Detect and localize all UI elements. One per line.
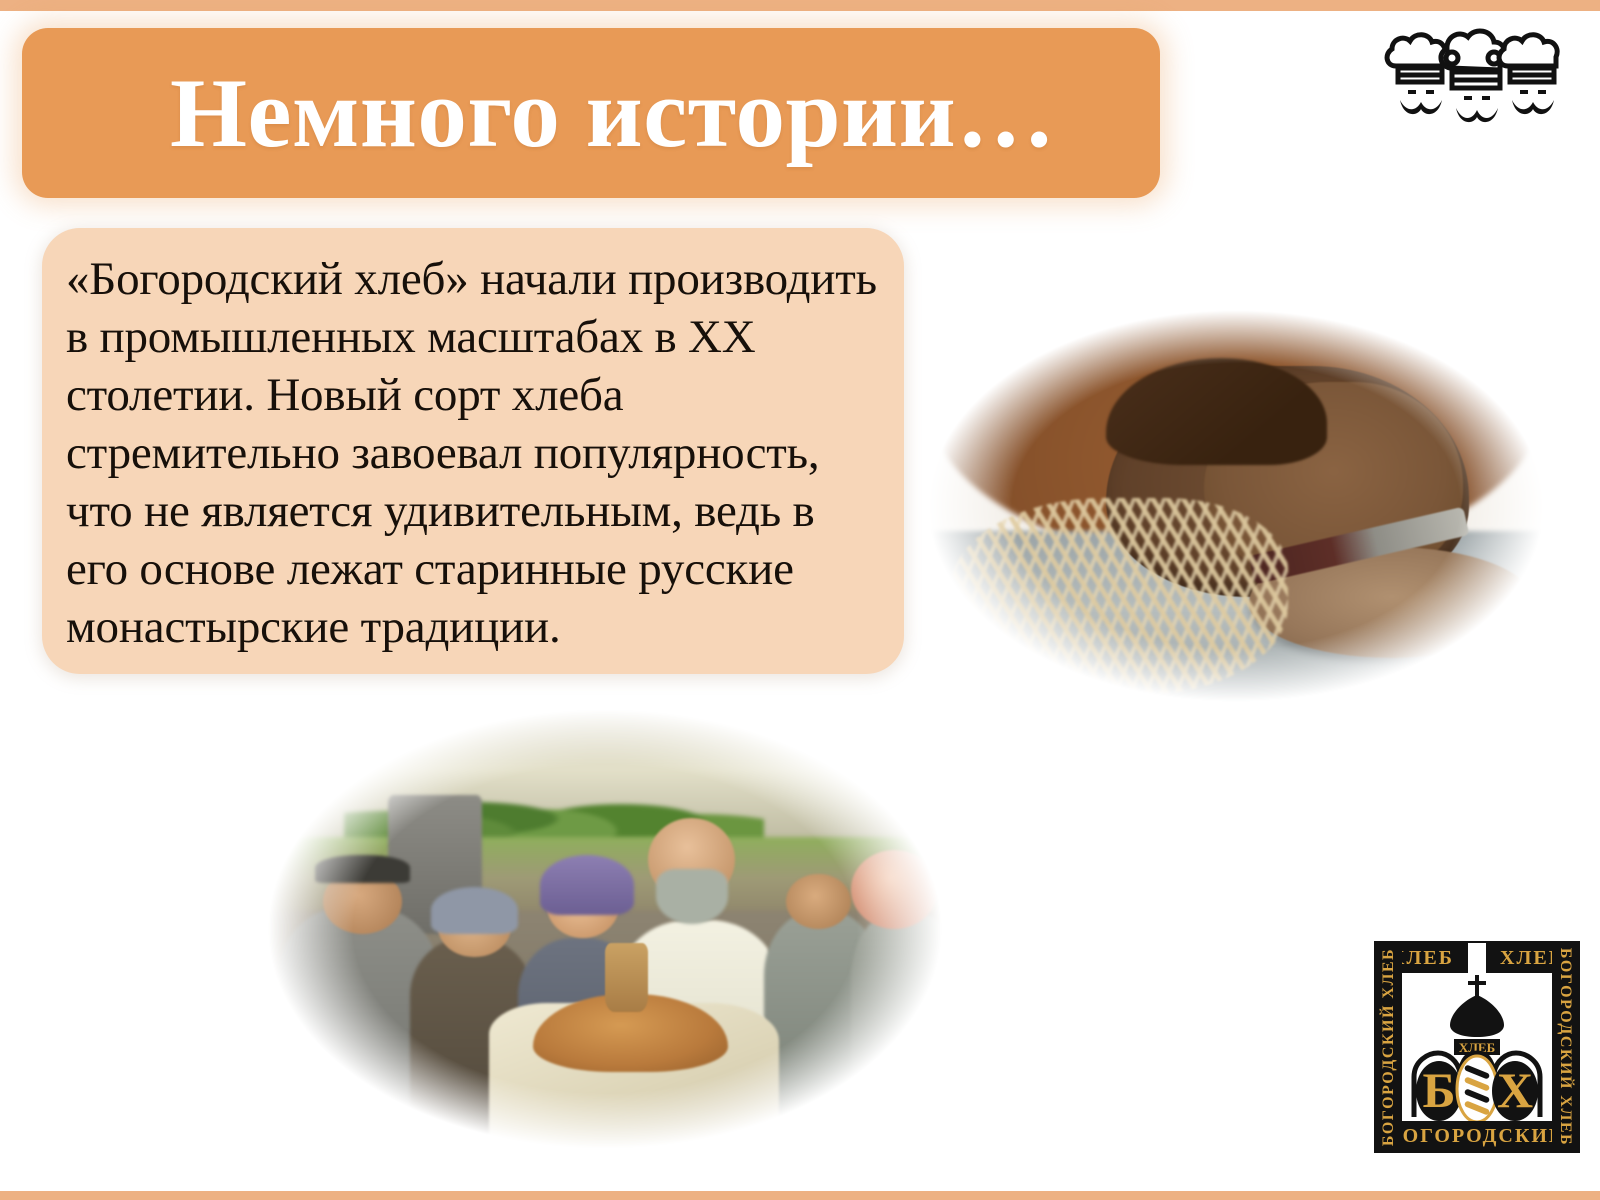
logo-text-bottom: БОГОРОДСКИЙ bbox=[1376, 1121, 1578, 1151]
painting-figure-man-left-cap bbox=[315, 855, 409, 883]
logo-text-right: БОГОРОДСКИЙ ХЛЕБ bbox=[1552, 943, 1578, 1151]
logo-emblem: ХЛЕБ Б Х bbox=[1404, 973, 1550, 1121]
bogorodsky-hleb-logo: ХЛЕБ ХЛЕБ БОГОРОДСКИЙ БОГОРОДСКИЙ ХЛЕБ Б… bbox=[1374, 941, 1580, 1153]
body-paragraph: «Богородский хлеб» начали производить в … bbox=[42, 228, 904, 656]
bottom-accent-strip bbox=[0, 1191, 1600, 1200]
logo-monogram-h: Х bbox=[1497, 1062, 1533, 1118]
logo-bread-oval bbox=[1457, 1056, 1497, 1121]
villagers-bread-and-salt-painting bbox=[243, 698, 967, 1160]
top-accent-strip bbox=[0, 0, 1600, 11]
logo-monogram-b: Б bbox=[1422, 1062, 1455, 1118]
painting-figure-right-2 bbox=[851, 911, 960, 1160]
painting-figure-woman-2-kerchief bbox=[431, 887, 518, 933]
rye-bread-photo bbox=[912, 300, 1560, 712]
body-text-card: «Богородский хлеб» начали производить в … bbox=[42, 228, 904, 674]
onion-dome-icon bbox=[1450, 995, 1504, 1037]
painting-figure-woman-violet-kerchief bbox=[540, 855, 634, 915]
painting-figure-right-2-head bbox=[851, 850, 938, 929]
painting-mask bbox=[243, 698, 967, 1160]
logo-text-left: БОГОРОДСКИЙ ХЛЕБ bbox=[1376, 943, 1402, 1151]
painting-figure-right-1-head bbox=[786, 874, 851, 929]
slide-root: { "slide": { "title": "Немного истории…"… bbox=[0, 0, 1600, 1200]
logo-text-right-inner: БОГОРОДСКИЙ ХЛЕБ bbox=[1556, 948, 1574, 1146]
painting-salt-shaker bbox=[605, 943, 648, 1012]
logo-text-left-inner: БОГОРОДСКИЙ ХЛЕБ bbox=[1380, 948, 1398, 1146]
rye-bread-photo-mask bbox=[912, 300, 1560, 712]
title-banner: Немного истории… bbox=[22, 28, 1160, 198]
painting-figure-bearded-man-beard bbox=[656, 869, 728, 924]
three-chef-hats-icon bbox=[1382, 22, 1560, 124]
orthodox-cross-icon bbox=[1468, 975, 1486, 997]
page-title: Немного истории… bbox=[22, 64, 1056, 163]
bread-scene bbox=[912, 300, 1560, 712]
